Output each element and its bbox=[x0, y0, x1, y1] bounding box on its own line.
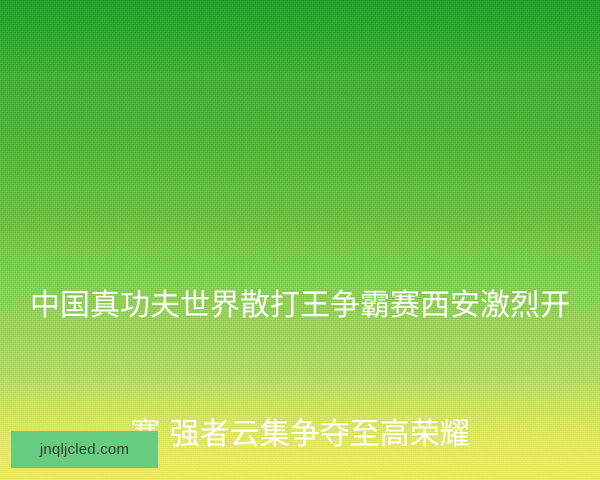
watermark-domain-label: jnqljcled.com bbox=[40, 441, 129, 458]
watermark-badge: jnqljcled.com bbox=[11, 431, 158, 468]
headline-line-1: 中国真功夫世界散打王争霸赛西安激烈开 bbox=[0, 284, 600, 327]
image-canvas: 中国真功夫世界散打王争霸赛西安激烈开 赛 强者云集争夺至高荣耀 jnqljcle… bbox=[0, 0, 600, 480]
